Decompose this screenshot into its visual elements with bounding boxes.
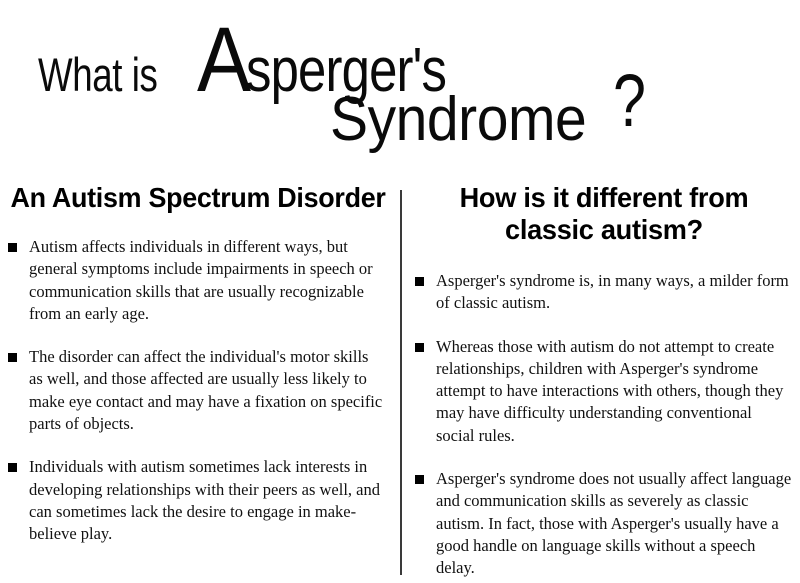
list-item: Individuals with autism sometimes lack i… xyxy=(8,456,386,545)
list-item-text: The disorder can affect the individual's… xyxy=(29,346,386,435)
left-column-bullet-list: Autism affects individuals in different … xyxy=(0,236,396,546)
square-bullet-icon xyxy=(8,353,17,362)
title-segment-capital-a: A xyxy=(197,8,248,113)
right-column-heading: How is it different from classic autism? xyxy=(414,182,794,246)
title-line-2: Syndrome? xyxy=(330,72,654,157)
list-item: Asperger's syndrome is, in many ways, a … xyxy=(415,270,792,315)
list-item-text: Individuals with autism sometimes lack i… xyxy=(29,456,386,545)
title-segment-what-is: What is xyxy=(38,47,157,102)
square-bullet-icon xyxy=(8,463,17,472)
title-segment-question-mark: ? xyxy=(613,58,646,143)
list-item-text: Asperger's syndrome is, in many ways, a … xyxy=(436,270,792,315)
right-heading-line-1: How is it different from xyxy=(414,182,794,214)
page-title: What isAsperger's Syndrome? xyxy=(0,0,800,168)
list-item-text: Autism affects individuals in different … xyxy=(29,236,386,325)
square-bullet-icon xyxy=(415,475,424,484)
square-bullet-icon xyxy=(8,243,17,252)
list-item-text: Whereas those with autism do not attempt… xyxy=(436,336,792,447)
right-heading-line-2: classic autism? xyxy=(414,214,794,246)
square-bullet-icon xyxy=(415,277,424,286)
left-column-heading: An Autism Spectrum Disorder xyxy=(8,182,388,214)
left-column: An Autism Spectrum Disorder Autism affec… xyxy=(0,182,396,546)
list-item: The disorder can affect the individual's… xyxy=(8,346,386,435)
right-column-bullet-list: Asperger's syndrome is, in many ways, a … xyxy=(408,270,800,580)
list-item: Asperger's syndrome does not usually aff… xyxy=(415,468,792,579)
column-divider xyxy=(400,190,402,575)
square-bullet-icon xyxy=(415,343,424,352)
title-segment-syndrome: Syndrome xyxy=(330,84,586,155)
list-item: Autism affects individuals in different … xyxy=(8,236,386,325)
list-item: Whereas those with autism do not attempt… xyxy=(415,336,792,447)
left-heading-line-1: An Autism Spectrum Disorder xyxy=(8,182,388,214)
right-column: How is it different from classic autism?… xyxy=(408,182,800,580)
list-item-text: Asperger's syndrome does not usually aff… xyxy=(436,468,792,579)
